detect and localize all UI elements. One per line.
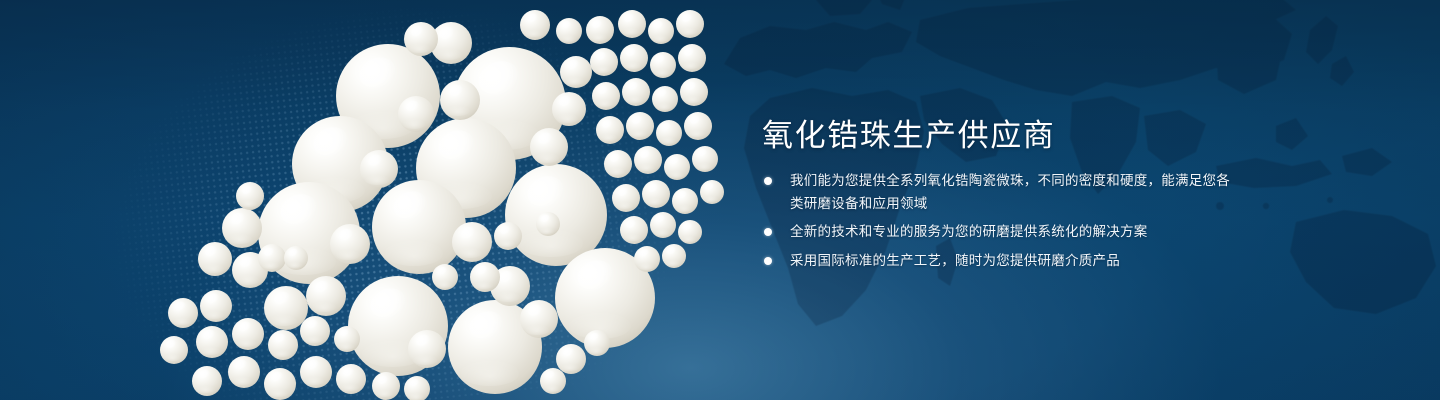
hero-banner: 氧化锆珠生产供应商 我们能为您提供全系列氧化锆陶瓷微珠，不同的密度和硬度，能满足… [0, 0, 1440, 400]
list-item: 我们能为您提供全系列氧化锆陶瓷微珠，不同的密度和硬度，能满足您各类研磨设备和应用… [764, 170, 1234, 215]
bullet-dot-icon [764, 177, 772, 185]
bullet-dot-icon [764, 257, 772, 265]
list-item-label: 采用国际标准的生产工艺，随时为您提供研磨介质产品 [790, 253, 1120, 268]
list-item-label: 我们能为您提供全系列氧化锆陶瓷微珠，不同的密度和硬度，能满足您各类研磨设备和应用… [790, 173, 1230, 211]
bullet-dot-icon [764, 228, 772, 236]
feature-list: 我们能为您提供全系列氧化锆陶瓷微珠，不同的密度和硬度，能满足您各类研磨设备和应用… [764, 170, 1234, 278]
list-item: 全新的技术和专业的服务为您的研磨提供系统化的解决方案 [764, 221, 1234, 244]
page-title: 氧化锆珠生产供应商 [762, 110, 1055, 155]
list-item-label: 全新的技术和专业的服务为您的研磨提供系统化的解决方案 [790, 224, 1148, 239]
zirconia-beads-image [0, 0, 740, 400]
banner-text-content: 氧化锆珠生产供应商 我们能为您提供全系列氧化锆陶瓷微珠，不同的密度和硬度，能满足… [762, 0, 1362, 400]
list-item: 采用国际标准的生产工艺，随时为您提供研磨介质产品 [764, 250, 1234, 273]
